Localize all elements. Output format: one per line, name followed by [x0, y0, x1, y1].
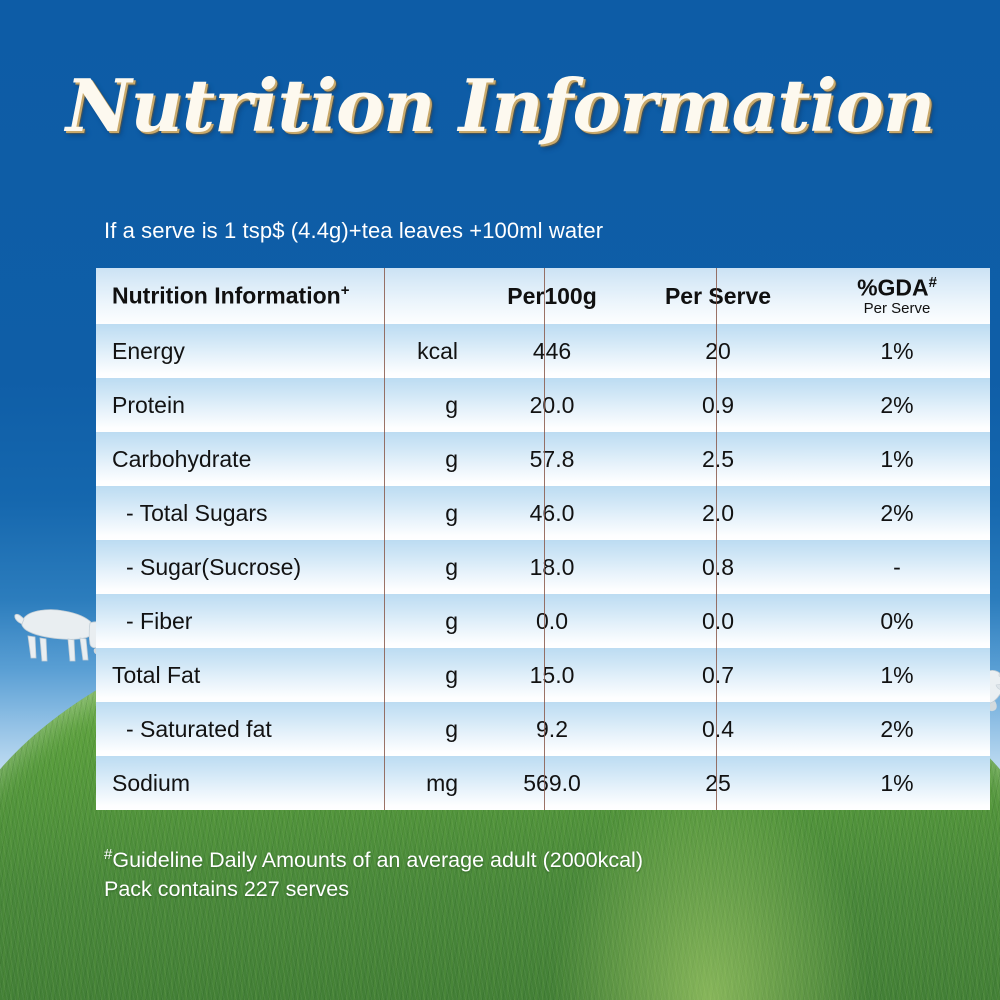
row-unit: g: [384, 486, 472, 540]
row-per-serve: 0.7: [632, 648, 804, 702]
header-nutrition-information-label: Nutrition Information: [112, 283, 341, 309]
row-unit: g: [384, 540, 472, 594]
header-gda-main: %GDA#: [804, 275, 990, 300]
table-row: Protein g 20.0 0.9 2%: [96, 378, 990, 432]
table-row: - Fiber g 0.0 0.0 0%: [96, 594, 990, 648]
row-unit: g: [384, 648, 472, 702]
row-gda: 1%: [804, 648, 990, 702]
column-divider-3: [716, 268, 717, 810]
row-per-100g: 15.0: [472, 648, 632, 702]
row-per-serve: 20: [632, 324, 804, 378]
nutrition-poster: Nutrition Information If a serve is 1 ts…: [0, 0, 1000, 1000]
row-name: Energy: [96, 324, 384, 378]
row-per-100g: 9.2: [472, 702, 632, 756]
row-unit: g: [384, 378, 472, 432]
row-per-serve: 0.9: [632, 378, 804, 432]
row-name: - Total Sugars: [96, 486, 384, 540]
row-per-serve: 0.0: [632, 594, 804, 648]
row-per-100g: 18.0: [472, 540, 632, 594]
table-row: Energy kcal 446 20 1%: [96, 324, 990, 378]
header-gda-label: %GDA: [857, 274, 929, 300]
row-gda: 2%: [804, 702, 990, 756]
row-per-100g: 569.0: [472, 756, 632, 810]
row-per-serve: 0.4: [632, 702, 804, 756]
row-name: Carbohydrate: [96, 432, 384, 486]
nutrition-table-wrap: Nutrition Information+ Per100g Per Serve…: [96, 268, 910, 810]
row-unit: g: [384, 702, 472, 756]
header-gda-superscript: #: [929, 274, 937, 291]
footer-line-2: Pack contains 227 serves: [104, 875, 643, 903]
row-gda: 1%: [804, 756, 990, 810]
row-gda: 0%: [804, 594, 990, 648]
row-name: Sodium: [96, 756, 384, 810]
table-header-row: Nutrition Information+ Per100g Per Serve…: [96, 268, 990, 324]
row-gda: 2%: [804, 378, 990, 432]
row-per-serve: 2.5: [632, 432, 804, 486]
table-row: Sodium mg 569.0 25 1%: [96, 756, 990, 810]
header-gda: %GDA# Per Serve: [804, 268, 990, 324]
row-unit: g: [384, 432, 472, 486]
table-row: - Saturated fat g 9.2 0.4 2%: [96, 702, 990, 756]
serve-note: If a serve is 1 tsp$ (4.4g)+tea leaves +…: [104, 218, 603, 244]
column-divider-2: [544, 268, 545, 810]
row-per-100g: 0.0: [472, 594, 632, 648]
row-per-serve: 2.0: [632, 486, 804, 540]
footer-note: #Guideline Daily Amounts of an average a…: [104, 845, 643, 903]
row-per-serve: 25: [632, 756, 804, 810]
table-row: Total Fat g 15.0 0.7 1%: [96, 648, 990, 702]
row-gda: -: [804, 540, 990, 594]
footer-line-1: #Guideline Daily Amounts of an average a…: [104, 845, 643, 875]
row-name: - Saturated fat: [96, 702, 384, 756]
table-row: Carbohydrate g 57.8 2.5 1%: [96, 432, 990, 486]
header-plus-superscript: +: [341, 282, 350, 299]
row-gda: 1%: [804, 324, 990, 378]
row-per-100g: 20.0: [472, 378, 632, 432]
table-row: - Sugar(Sucrose) g 18.0 0.8 -: [96, 540, 990, 594]
row-unit: g: [384, 594, 472, 648]
nutrition-table: Nutrition Information+ Per100g Per Serve…: [96, 268, 990, 810]
row-gda: 2%: [804, 486, 990, 540]
header-nutrition-information: Nutrition Information+: [96, 268, 472, 324]
row-per-serve: 0.8: [632, 540, 804, 594]
row-name: Total Fat: [96, 648, 384, 702]
row-unit: kcal: [384, 324, 472, 378]
header-gda-subtitle: Per Serve: [804, 300, 990, 317]
row-gda: 1%: [804, 432, 990, 486]
row-name: Protein: [96, 378, 384, 432]
table-row: - Total Sugars g 46.0 2.0 2%: [96, 486, 990, 540]
row-per-100g: 446: [472, 324, 632, 378]
column-divider-1: [384, 268, 385, 810]
row-name: - Sugar(Sucrose): [96, 540, 384, 594]
row-name: - Fiber: [96, 594, 384, 648]
row-per-100g: 57.8: [472, 432, 632, 486]
header-per-serve: Per Serve: [632, 268, 804, 324]
footer-line-1-label: Guideline Daily Amounts of an average ad…: [112, 848, 643, 872]
row-per-100g: 46.0: [472, 486, 632, 540]
row-unit: mg: [384, 756, 472, 810]
page-title: Nutrition Information: [0, 63, 1000, 148]
header-per-100g: Per100g: [472, 268, 632, 324]
table-body: Energy kcal 446 20 1% Protein g 20.0 0.9…: [96, 324, 990, 810]
